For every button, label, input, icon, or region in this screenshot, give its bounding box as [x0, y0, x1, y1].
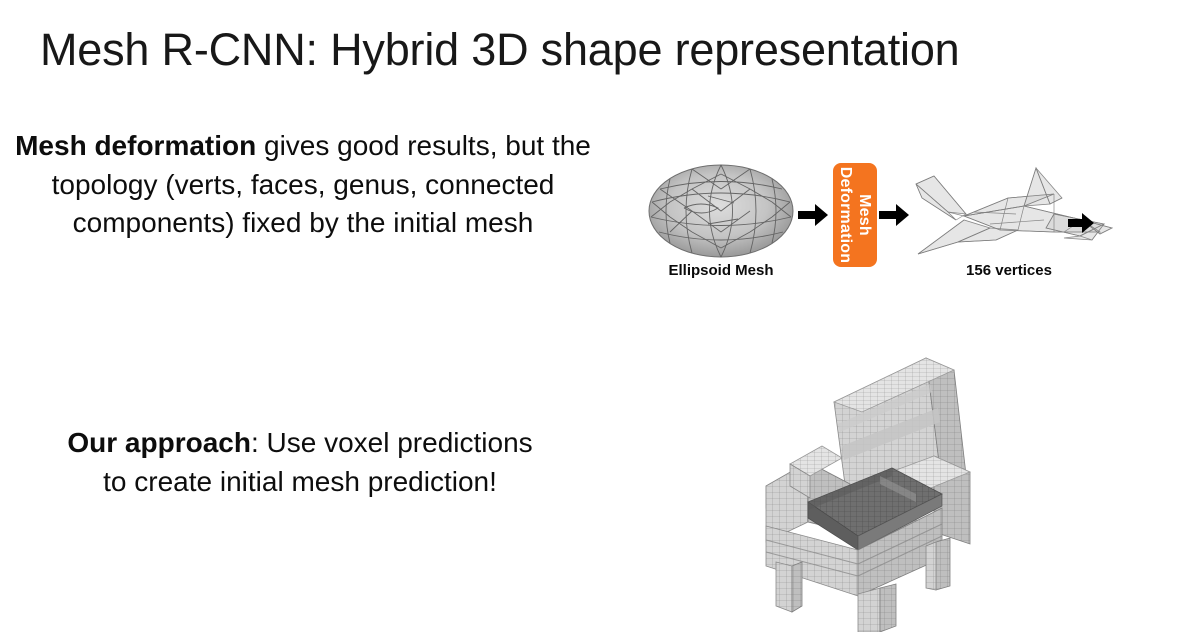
plane-mesh-icon	[904, 154, 1114, 266]
ellipsoid-mesh-icon	[646, 162, 796, 260]
paragraph-mesh-deformation: Mesh deformation gives good results, but…	[14, 127, 592, 243]
slide-canvas: Mesh R-CNN: Hybrid 3D shape representati…	[0, 0, 1178, 634]
paragraph-1-bold-lead: Mesh deformation	[15, 130, 256, 161]
mesh-deformation-block: Mesh Deformation	[833, 163, 877, 267]
caption-156-vertices: 156 vertices	[924, 262, 1094, 279]
arrow-right-icon	[1068, 212, 1094, 234]
paragraph-our-approach: Our approach: Use voxel predictions to c…	[60, 424, 540, 501]
pipeline-figure: Ellipsoid Mesh Mesh Deformation	[636, 150, 1178, 295]
paragraph-2-bold-lead: Our approach	[67, 427, 251, 458]
page-title: Mesh R-CNN: Hybrid 3D shape representati…	[40, 22, 1140, 78]
mesh-deformation-label-line-1: Mesh	[856, 194, 873, 236]
mesh-deformation-label-line-2: Deformation	[837, 167, 854, 263]
voxel-chair-icon	[730, 336, 1010, 632]
mesh-deformation-label: Mesh Deformation	[836, 167, 874, 263]
arrow-right-icon	[798, 202, 828, 228]
caption-ellipsoid-mesh: Ellipsoid Mesh	[636, 262, 806, 279]
